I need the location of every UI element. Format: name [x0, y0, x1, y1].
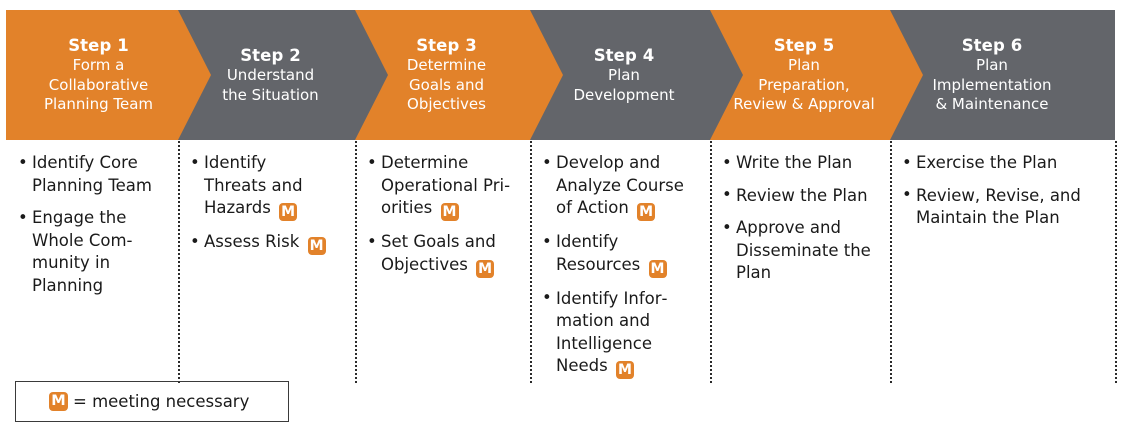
bullet-text: Identify Core Planning Team — [32, 153, 152, 195]
column-separator-5 — [890, 141, 892, 383]
chevron-step-5-content: Step 5Plan Preparation, Review & Approva… — [733, 35, 874, 115]
bullet-column-1: Identify Core Planning TeamEngage the Wh… — [18, 152, 168, 307]
column-separator-2 — [355, 141, 357, 383]
chevron-step-4-title: Step 4 — [574, 45, 675, 66]
bullet-item: Set Goals and Objectives M — [367, 231, 527, 278]
meeting-badge-icon: M — [308, 237, 326, 255]
chevron-step-2-subtitle: Understand the Situation — [222, 66, 318, 105]
bullet-item: Develop and Analyze Course of Action M — [542, 152, 702, 221]
chevron-step-1[interactable]: Step 1Form a Collaborative Planning Team — [6, 10, 211, 140]
process-diagram: Step 1Form a Collaborative Planning Team… — [0, 0, 1123, 431]
bullet-item: Assess Risk M — [190, 231, 330, 255]
chevron-step-6-subtitle: Plan Implementation & Maintenance — [932, 56, 1051, 115]
chevron-step-6-title: Step 6 — [932, 35, 1051, 56]
chevron-step-4-subtitle: Plan Development — [574, 66, 675, 105]
bullet-item: Identify Threats and Hazards M — [190, 152, 330, 221]
bullet-column-3: Determine Operational Pri­orities MSet G… — [367, 152, 527, 288]
column-separator-4 — [710, 141, 712, 383]
bullet-column-2: Identify Threats and Hazards MAssess Ris… — [190, 152, 330, 265]
bullet-item: Review, Revise, and Maintain the Plan — [902, 185, 1082, 230]
chevron-step-2-content: Step 2Understand the Situation — [222, 45, 318, 105]
chevron-step-5-title: Step 5 — [733, 35, 874, 56]
chevron-step-3-content: Step 3Determine Goals and Objectives — [407, 35, 486, 115]
bullet-column-5: Write the PlanReview the PlanApprove and… — [722, 152, 882, 295]
bullet-text: Assess Risk — [204, 232, 299, 251]
column-separator-6 — [1115, 141, 1117, 383]
bullet-text: Identify Resources — [556, 232, 640, 274]
bullet-item: Write the Plan — [722, 152, 882, 175]
bullet-item: Determine Operational Pri­orities M — [367, 152, 527, 221]
chevron-step-3-subtitle: Determine Goals and Objectives — [407, 56, 486, 115]
chevron-step-4-content: Step 4Plan Development — [574, 45, 675, 105]
chevron-step-1-title: Step 1 — [44, 35, 153, 56]
meeting-badge-icon: M — [441, 203, 459, 221]
meeting-badge-icon: M — [476, 260, 494, 278]
bullet-column-4: Develop and Analyze Course of Action MId… — [542, 152, 702, 389]
chevron-step-3-title: Step 3 — [407, 35, 486, 56]
bullet-text: Review the Plan — [736, 186, 868, 205]
bullet-text: Exercise the Plan — [916, 153, 1057, 172]
meeting-badge-icon: M — [49, 392, 68, 411]
bullet-item: Identify Resources M — [542, 231, 702, 278]
column-separator-3 — [530, 141, 532, 383]
bullet-text: Develop and Analyze Course of Action — [556, 153, 684, 217]
meeting-badge-icon: M — [637, 203, 655, 221]
meeting-badge-icon: M — [616, 361, 634, 379]
meeting-badge-icon: M — [279, 203, 297, 221]
chevron-step-1-content: Step 1Form a Collaborative Planning Team — [44, 35, 153, 115]
legend-label: = meeting necessary — [73, 392, 249, 411]
column-separator-1 — [178, 141, 180, 383]
bullet-text: Write the Plan — [736, 153, 852, 172]
chevron-band: Step 1Form a Collaborative Planning Team… — [6, 10, 1115, 140]
bullet-text: Engage the Whole Com­munity in Planning — [32, 208, 133, 295]
bullet-item: Identify Infor­mation and Intelligence N… — [542, 288, 702, 380]
chevron-step-6-content: Step 6Plan Implementation & Maintenance — [932, 35, 1051, 115]
bullet-item: Identify Core Planning Team — [18, 152, 168, 197]
bullet-text: Review, Revise, and Maintain the Plan — [916, 186, 1081, 228]
bullet-text: Identify Infor­mation and Intelligence N… — [556, 289, 668, 376]
bullet-text: Approve and Disseminate the Plan — [736, 218, 871, 282]
bullet-item: Exercise the Plan — [902, 152, 1082, 175]
legend-box: M = meeting necessary — [15, 381, 289, 422]
chevron-step-1-subtitle: Form a Collaborative Planning Team — [44, 56, 153, 115]
chevron-step-5-subtitle: Plan Preparation, Review & Approval — [733, 56, 874, 115]
meeting-badge-icon: M — [649, 260, 667, 278]
bullet-item: Approve and Disseminate the Plan — [722, 217, 882, 285]
bullet-column-6: Exercise the PlanReview, Revise, and Mai… — [902, 152, 1082, 240]
bullet-item: Review the Plan — [722, 185, 882, 208]
chevron-step-2-title: Step 2 — [222, 45, 318, 66]
bullet-item: Engage the Whole Com­munity in Planning — [18, 207, 168, 297]
